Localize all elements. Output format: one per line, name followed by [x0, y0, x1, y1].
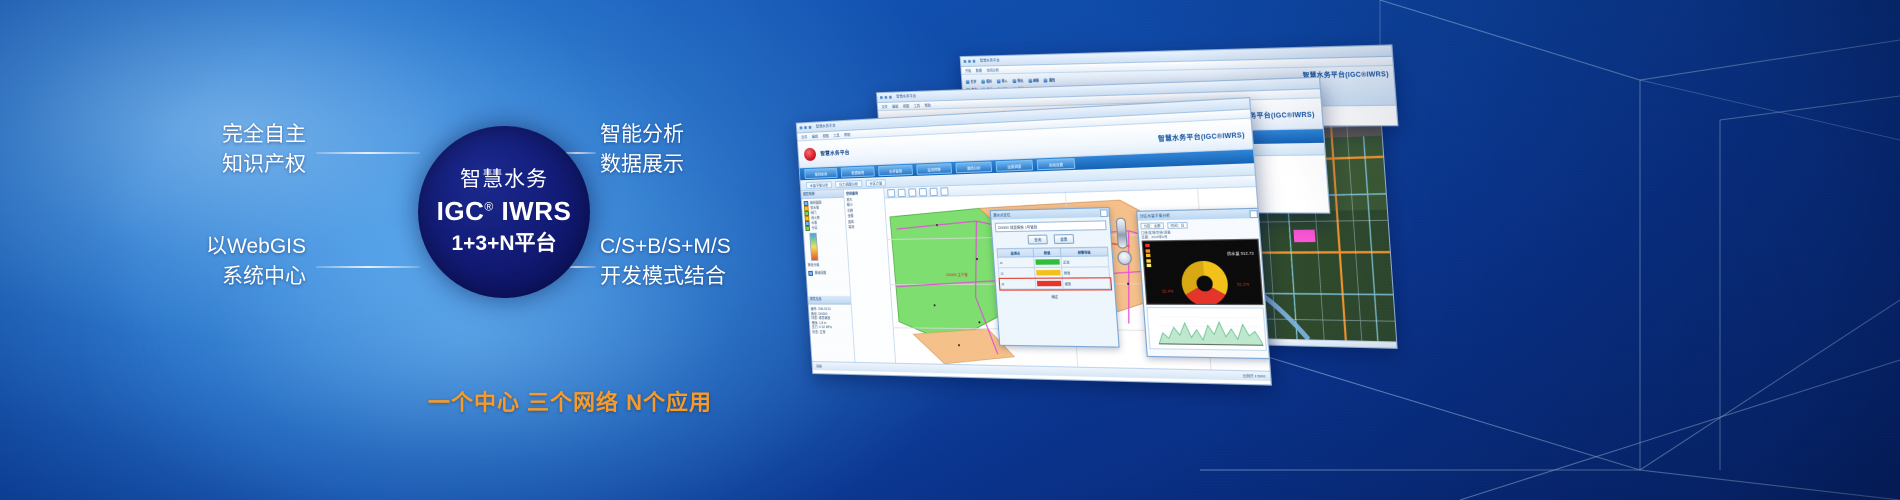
menu-item-file[interactable]: 开始: [965, 68, 971, 73]
cell-bar: [1034, 267, 1062, 278]
ribbon-tool-open[interactable]: 打开: [966, 79, 977, 84]
menu-item-help[interactable]: 帮助: [844, 132, 851, 137]
attribute-table: 编号: GW-0213 管径: DN300 材质: 球墨铸铁 埋深: 1.8 m…: [809, 304, 855, 362]
hub-line2: IGC® IWRS: [437, 196, 572, 227]
menu-item-tools[interactable]: 工具: [833, 132, 840, 137]
pie-chart-title: 供水量 512.73: [1227, 251, 1254, 257]
nav-item-dispatch[interactable]: 运营调度: [995, 160, 1033, 172]
zoom-slider[interactable]: [1116, 218, 1128, 249]
pie-legend-swatch-2: [1145, 249, 1150, 252]
feature-bottom-right-line1: C/S+B/S+M/S: [600, 232, 731, 262]
query-button[interactable]: 查询: [1028, 235, 1048, 245]
feature-bottom-right-line2: 开发模式结合: [600, 262, 731, 292]
menu-item-file[interactable]: 文件: [881, 104, 887, 109]
front-window-logo-text: 智慧水务平台: [820, 149, 850, 157]
attribute-value: 正常: [820, 330, 826, 334]
stats-filter-area[interactable]: 分区：全部: [1140, 222, 1164, 229]
pie-legend-swatch-1: [1145, 244, 1150, 247]
attribute-value: 球墨铸铁: [819, 316, 831, 320]
cell-point: J3: [999, 278, 1036, 289]
ribbon-tool-import-label: 导入: [1001, 78, 1007, 83]
menu-item-data[interactable]: 数据: [976, 68, 983, 73]
cell-level: 正常: [1061, 256, 1109, 267]
stats-panel[interactable]: 分区水量平衡分析 分区：全部 时间：日 口径/区域/管径/流量 日期：2015年…: [1136, 208, 1270, 360]
svg-text:DN300 主干管: DN300 主干管: [946, 272, 969, 278]
leak-location-dialog[interactable]: 漏水点定位 DN300 球墨铸铁 1号管段 查询 重置 监测点: [990, 207, 1120, 348]
layer-tree-item[interactable]: 基础底图: [808, 271, 847, 276]
hub-line3: 1+3+N平台: [451, 230, 556, 257]
attribute-row: 状态: 正常: [812, 330, 851, 335]
stats-filter-time[interactable]: 时间：日: [1167, 222, 1188, 229]
table-row[interactable]: J3 报警: [999, 278, 1110, 289]
refresh-icon: [1028, 78, 1032, 82]
pie-legend-swatch-5: [1147, 264, 1152, 267]
feature-top-right-line2: 数据展示: [600, 150, 684, 180]
feature-top-left-line1: 完全自主: [186, 120, 306, 150]
window-control-maximize-icon[interactable]: [884, 96, 887, 99]
nav-item-data-mgmt[interactable]: 数据管理: [841, 166, 875, 177]
ribbon-tool-refresh[interactable]: 刷新: [1028, 78, 1040, 83]
hub-brand-igc: IGC: [437, 196, 485, 226]
cell-point: J1: [998, 257, 1035, 268]
connector-top-left: [316, 152, 420, 154]
zoom-out-icon[interactable]: [898, 188, 906, 196]
layer-icon: [805, 226, 810, 231]
reset-button[interactable]: 重置: [1054, 234, 1075, 244]
sub-item-pressure[interactable]: 压力调度分析: [835, 179, 862, 187]
window-control-minimize-icon[interactable]: [800, 126, 803, 129]
legend-label: 管径分级: [808, 263, 847, 268]
hub-line1: 智慧水务: [460, 167, 548, 193]
ribbon-tool-import[interactable]: 导入: [996, 78, 1007, 83]
banner-tagline: 一个中心 三个网络 N个应用: [360, 385, 780, 417]
ribbon-tool-props-label: 属性: [1049, 77, 1055, 82]
hub-brand-iwrs: IWRS: [501, 196, 571, 226]
front-window-status-left: 就绪: [816, 364, 822, 368]
front-window-platform-title: 智慧水务平台(IGC®IWRS): [1158, 129, 1245, 143]
sub-item-dma[interactable]: 分区计量: [865, 179, 886, 187]
attribute-key: 状态: [812, 330, 818, 334]
properties-icon: [1044, 78, 1048, 82]
concept-diagram: 完全自主 知识产权 以WebGIS 系统中心 智能分析 数据展示 C/S+B/S…: [0, 0, 820, 500]
pan-icon[interactable]: [908, 188, 916, 197]
leak-dialog-body: DN300 球墨铸铁 1号管段 查询 重置 监测点 数值 报警等级: [991, 217, 1115, 303]
window-control-minimize-icon[interactable]: [963, 60, 966, 63]
layer-tree-item[interactable]: 分区: [805, 225, 844, 231]
menu-item-file[interactable]: 文件: [801, 134, 807, 139]
menu-item-edit[interactable]: 编辑: [892, 104, 898, 109]
col-value: 数值: [1033, 248, 1061, 257]
window-control-maximize-icon[interactable]: [804, 126, 807, 129]
company-logo-icon: [804, 147, 817, 161]
nav-item-monitoring[interactable]: 监测预警: [916, 163, 952, 175]
layer-icon: [808, 271, 813, 276]
feature-bottom-left-line2: 系统中心: [156, 262, 306, 292]
ribbon-tool-open-label: 打开: [971, 79, 977, 84]
nav-item-settings[interactable]: 系统设置: [1037, 158, 1076, 170]
leak-dialog-table: 监测点 数值 报警等级 J1 正常 J2: [996, 247, 1111, 290]
menu-item-edit[interactable]: 编辑: [812, 133, 818, 138]
front-window-title: 智慧水务平台: [816, 123, 836, 129]
tool-item[interactable]: 量测: [848, 224, 884, 230]
nav-item-leakage[interactable]: 漏损分析: [955, 161, 992, 173]
svg-text:51.2%: 51.2%: [1237, 282, 1249, 287]
svg-text:32.4%: 32.4%: [1162, 289, 1174, 294]
monthly-trend-mini-chart[interactable]: [1146, 307, 1267, 351]
menu-item-analysis[interactable]: 空间分析: [986, 67, 999, 72]
attrs-panel-title: 属性信息: [808, 296, 851, 304]
attribute-value: 0.32 MPa: [819, 325, 832, 329]
attribute-value: GW-0213: [818, 307, 831, 311]
status-bar-alarm: [1037, 281, 1062, 286]
pie-chart-svg: 32.4% 51.2%: [1143, 240, 1264, 304]
save-icon: [981, 79, 985, 83]
pie-legend-swatch-4: [1146, 259, 1151, 262]
export-icon: [1012, 78, 1016, 82]
stats-panel-body: 分区：全部 时间：日 口径/区域/管径/流量 日期：2015年6月: [1138, 218, 1270, 353]
stats-panel-title: 分区水量平衡分析: [1139, 211, 1170, 221]
window-control-minimize-icon[interactable]: [880, 96, 883, 99]
ribbon-tool-export-label: 导出: [1017, 78, 1023, 83]
screenshot-stack: 城市影像底图: [790, 40, 1510, 380]
middle-window-title: 智慧水务平台: [896, 94, 916, 100]
back-window-title: 智慧水务平台: [980, 58, 1000, 64]
ribbon-tool-export[interactable]: 导出: [1012, 78, 1023, 83]
import-icon: [996, 79, 1000, 83]
nav-item-business[interactable]: 业务管理: [878, 165, 913, 177]
water-balance-pie-chart[interactable]: 供水量 512.73 32.4% 51.2%: [1142, 239, 1264, 305]
close-icon[interactable]: [1100, 209, 1108, 217]
feature-top-right-line1: 智能分析: [600, 120, 684, 150]
feature-top-right: 智能分析 数据展示: [600, 120, 684, 180]
layer-tree-item-label: 分区: [812, 226, 818, 231]
legend-color-ramp: [809, 233, 818, 261]
window-control-close-icon[interactable]: [889, 96, 892, 99]
cell-bar: [1034, 256, 1062, 267]
status-bar-warn: [1036, 270, 1061, 276]
gis-map-area[interactable]: DN300 主干管 分区 B 漏水点定位 DN300 球墨铸铁 1号管段 查询: [884, 176, 1270, 371]
attribute-key: 材质: [811, 316, 817, 320]
attribute-key: 编号: [811, 307, 817, 311]
registered-trademark-icon: ®: [484, 200, 493, 214]
nav-item-pipe-query[interactable]: 管网查询: [804, 168, 837, 179]
pie-legend-swatch-3: [1146, 254, 1151, 257]
hero-banner: 完全自主 知识产权 以WebGIS 系统中心 智能分析 数据展示 C/S+B/S…: [0, 0, 1900, 500]
sub-item-water-balance[interactable]: 水量平衡分析: [806, 181, 832, 189]
feature-bottom-right: C/S+B/S+M/S 开发模式结合: [600, 232, 731, 292]
measure-icon[interactable]: [940, 187, 948, 196]
leak-dialog-buttons[interactable]: 查询 重置: [996, 233, 1108, 245]
connector-bottom-left: [316, 266, 420, 268]
front-window-workspace: 图层管理 管网图层 供水管 阀门 消火栓 水表 分区 管径分级 基础底图 属性信…: [801, 176, 1270, 371]
ribbon-tool-save-label: 保存: [986, 78, 992, 83]
feature-top-left-line2: 知识产权: [186, 150, 306, 180]
layer-tree[interactable]: 管网图层 供水管 阀门 消火栓 水表 分区 管径分级 基础底图: [802, 198, 850, 296]
ribbon-tool-save[interactable]: 保存: [981, 78, 992, 83]
leak-dialog-footer[interactable]: 确定: [1000, 294, 1112, 299]
menu-item-help[interactable]: 帮助: [924, 103, 931, 108]
select-icon[interactable]: [929, 187, 937, 196]
window-control-close-icon[interactable]: [973, 60, 976, 63]
fullextent-icon[interactable]: [919, 187, 927, 196]
leak-dialog-title: 漏水点定位: [993, 211, 1011, 220]
cell-level: 预警: [1062, 267, 1110, 278]
layer-tree-item-label: 基础底图: [815, 271, 827, 276]
window-control-close-icon[interactable]: [809, 126, 812, 129]
table-row[interactable]: J2 预警: [998, 267, 1109, 279]
front-window-status-right: 比例尺 1:5000: [1243, 374, 1266, 379]
cell-bar: [1035, 278, 1063, 289]
feature-top-left: 完全自主 知识产权: [186, 120, 306, 180]
pan-pad-icon[interactable]: [1117, 251, 1132, 265]
feature-bottom-left-line1: 以WebGIS: [156, 232, 306, 262]
menu-item-view[interactable]: 视图: [903, 103, 910, 108]
close-icon[interactable]: [1249, 209, 1258, 217]
menu-item-view[interactable]: 视图: [822, 133, 829, 138]
attribute-key: 压力: [812, 325, 818, 329]
window-front[interactable]: 智慧水务平台 文件 编辑 视图 工具 帮助 智慧水务平台 智慧水务平台(IGC®…: [796, 97, 1272, 386]
menu-item-tools[interactable]: 工具: [914, 103, 921, 108]
window-control-maximize-icon[interactable]: [968, 60, 971, 63]
ribbon-tool-props[interactable]: 属性: [1044, 77, 1056, 82]
open-icon: [966, 79, 970, 83]
leak-dialog-field[interactable]: DN300 球墨铸铁 1号管段: [995, 220, 1107, 232]
ribbon-tool-refresh-label: 刷新: [1033, 78, 1039, 83]
center-hub: 智慧水务 IGC® IWRS 1+3+N平台: [418, 126, 590, 298]
feature-bottom-left: 以WebGIS 系统中心: [156, 232, 306, 292]
cell-point: J2: [998, 267, 1035, 278]
status-bar-normal: [1035, 259, 1060, 265]
cell-level: 报警: [1063, 278, 1111, 289]
zoom-in-icon[interactable]: [887, 189, 895, 197]
